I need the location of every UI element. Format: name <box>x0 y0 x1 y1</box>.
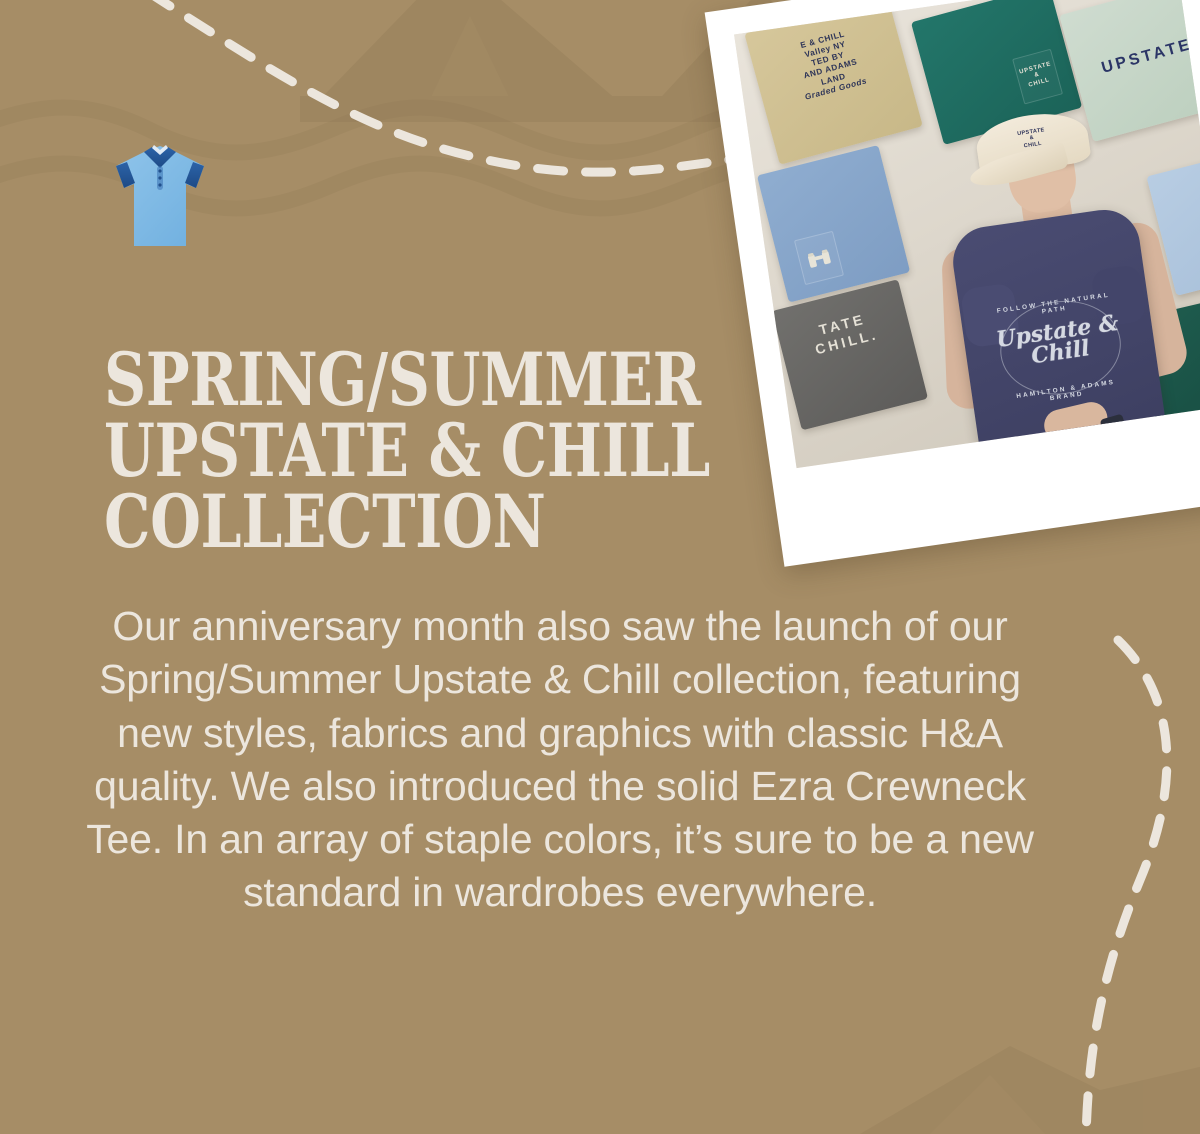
newsletter-panel: Spring/Summer Upstate & Chill Collection… <box>0 0 1200 1134</box>
page-title: Spring/Summer Upstate & Chill Collection <box>104 345 632 557</box>
mountain-silhouette-bottom-icon <box>860 1046 1200 1134</box>
green-tee-pocket-label: UPSTATE&CHILL <box>1013 50 1061 104</box>
photo-image: E & CHILLValley NYTED BYAND ADAMSLANDGra… <box>734 0 1200 468</box>
navy-upstate-chill-tee: FOLLOW THE NATURAL PATH Upstate &Chill H… <box>948 206 1167 457</box>
polaroid-frame: E & CHILLValley NYTED BYAND ADAMSLANDGra… <box>705 0 1200 567</box>
blue-tee-pocket <box>794 230 844 285</box>
product-photo: E & CHILLValley NYTED BYAND ADAMSLANDGra… <box>705 0 1200 567</box>
headline-line-3: Collection <box>104 487 632 558</box>
dashed-curve-right-icon <box>1086 640 1167 1134</box>
headline-line-2: Upstate & Chill <box>104 416 632 487</box>
light-blue-tee-label: UP <box>1154 179 1200 225</box>
body-paragraph: Our anniversary month also saw the launc… <box>60 600 1060 920</box>
polo-shirt-icon <box>108 142 212 254</box>
charcoal-tee-label: TATECHILL. <box>778 300 913 366</box>
dashed-curve-top-icon <box>148 0 760 172</box>
body-copy: Our anniversary month also saw the launc… <box>60 600 1060 920</box>
khaki-tee-label: E & CHILLValley NYTED BYAND ADAMSLANDGra… <box>750 16 909 114</box>
model-person: UPSTATE&CHILL FOLLOW THE NATURAL PATH Up… <box>924 126 1188 453</box>
headline-line-1: Spring/Summer <box>104 345 632 416</box>
model-watch <box>1100 414 1127 438</box>
tee-chest-graphic: FOLLOW THE NATURAL PATH Upstate &Chill H… <box>986 290 1134 408</box>
green-tee-pocket: UPSTATE&CHILL <box>1012 49 1062 105</box>
sage-tee-label: UPSTATE <box>1072 27 1200 85</box>
binoculars-icon <box>804 244 834 273</box>
